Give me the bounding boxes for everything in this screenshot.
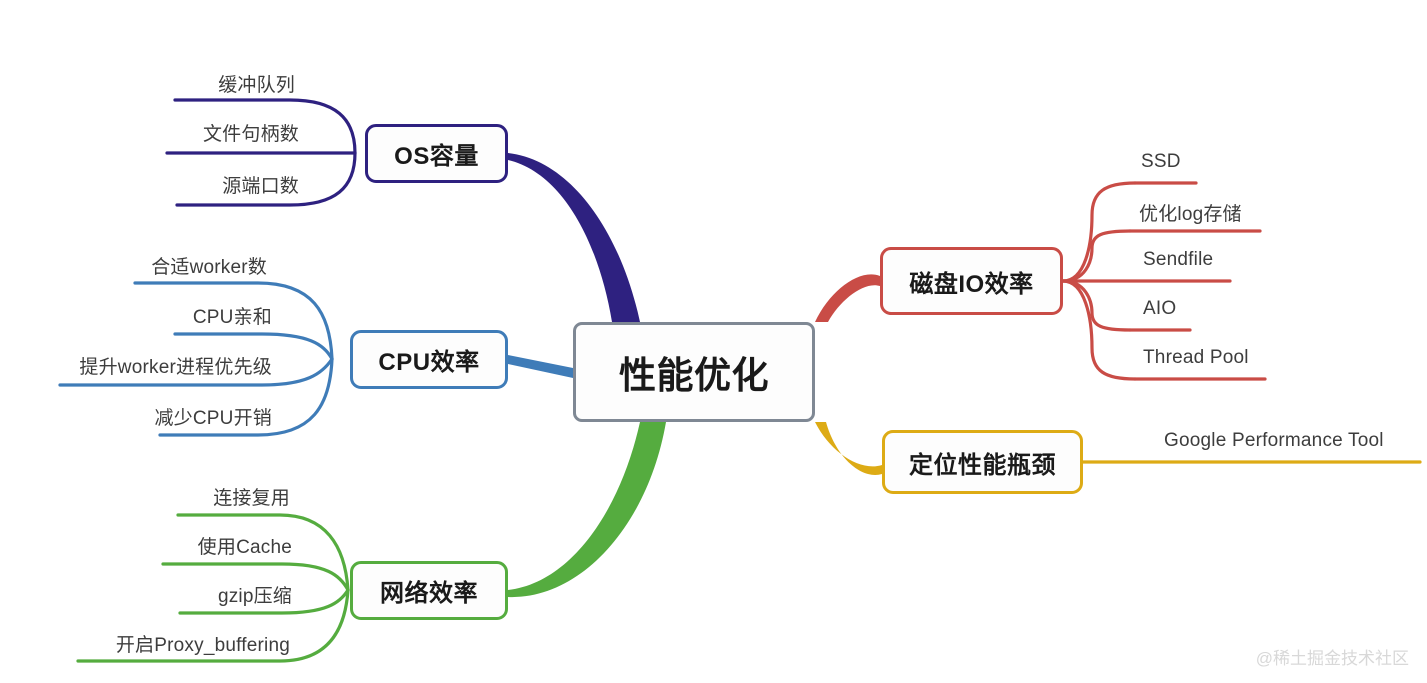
leaf-network-1-text: 使用Cache (198, 537, 292, 558)
leaf-os-1-text: 文件句柄数 (203, 124, 299, 145)
node-disk[interactable]: 磁盘IO效率 (880, 247, 1063, 315)
leaf-network-1[interactable]: 使用Cache (115, 532, 292, 559)
leaf-disk-1-text: 优化log存储 (1139, 204, 1242, 225)
leaf-bottleneck-0-text: Google Performance Tool (1164, 430, 1384, 451)
leaf-cpu-0[interactable]: 合适worker数 (95, 252, 267, 279)
mindmap-canvas: 性能优化 OS容量 CPU效率 网络效率 磁盘IO效率 定位性能瓶颈 缓冲队列 … (0, 0, 1427, 683)
leaf-cpu-3[interactable]: 减少CPU开销 (110, 403, 272, 430)
node-network[interactable]: 网络效率 (350, 561, 508, 620)
leaf-network-2-text: gzip压缩 (218, 586, 292, 607)
edge-center-to-cpu (508, 355, 573, 378)
leaf-os-0[interactable]: 缓冲队列 (135, 70, 295, 97)
edge-center-to-disk (815, 274, 880, 322)
leaf-network-2[interactable]: gzip压缩 (135, 581, 292, 608)
leaf-network-3[interactable]: 开启Proxy_buffering (35, 630, 290, 657)
leaf-disk-2[interactable]: Sendfile (1143, 249, 1213, 271)
leaf-os-2[interactable]: 源端口数 (137, 171, 299, 198)
watermark: @稀土掘金技术社区 (1256, 644, 1409, 669)
leaf-network-0-text: 连接复用 (213, 488, 290, 509)
leaf-disk-4[interactable]: Thread Pool (1143, 347, 1249, 369)
leaf-network-0[interactable]: 连接复用 (135, 483, 290, 510)
node-disk-label: 磁盘IO效率 (909, 264, 1033, 299)
leaf-cpu-3-text: 减少CPU开销 (154, 408, 272, 429)
leaf-disk-1[interactable]: 优化log存储 (1139, 199, 1242, 226)
node-center-label: 性能优化 (619, 345, 769, 399)
node-cpu-label: CPU效率 (378, 342, 479, 377)
node-bottleneck[interactable]: 定位性能瓶颈 (882, 430, 1083, 494)
node-os-label: OS容量 (394, 136, 479, 171)
node-center[interactable]: 性能优化 (573, 322, 815, 422)
node-cpu[interactable]: CPU效率 (350, 330, 508, 389)
leaf-cpu-2[interactable]: 提升worker进程优先级 (25, 352, 272, 379)
edge-center-to-os (508, 153, 640, 322)
leaf-cpu-0-text: 合适worker数 (151, 257, 267, 278)
leaf-os-2-text: 源端口数 (222, 176, 299, 197)
leaf-cpu-1[interactable]: CPU亲和 (125, 302, 272, 329)
leaf-disk-3[interactable]: AIO (1143, 298, 1176, 320)
edge-center-to-network (508, 422, 666, 597)
leaf-disk-0-text: SSD (1141, 151, 1181, 172)
node-network-label: 网络效率 (380, 573, 478, 608)
node-bottleneck-label: 定位性能瓶颈 (909, 445, 1056, 480)
leaf-bottleneck-0[interactable]: Google Performance Tool (1164, 430, 1384, 452)
edge-center-to-bottleneck (815, 422, 882, 475)
leaf-disk-0[interactable]: SSD (1141, 151, 1181, 173)
leaf-os-0-text: 缓冲队列 (218, 75, 295, 96)
node-os[interactable]: OS容量 (365, 124, 508, 183)
leaf-network-3-text: 开启Proxy_buffering (116, 635, 290, 656)
leaf-cpu-2-text: 提升worker进程优先级 (79, 357, 272, 378)
leaf-disk-2-text: Sendfile (1143, 249, 1213, 270)
leaf-cpu-1-text: CPU亲和 (193, 307, 272, 328)
leaf-disk-4-text: Thread Pool (1143, 347, 1249, 368)
leaf-disk-3-text: AIO (1143, 298, 1176, 319)
leaf-os-1[interactable]: 文件句柄数 (127, 119, 299, 146)
